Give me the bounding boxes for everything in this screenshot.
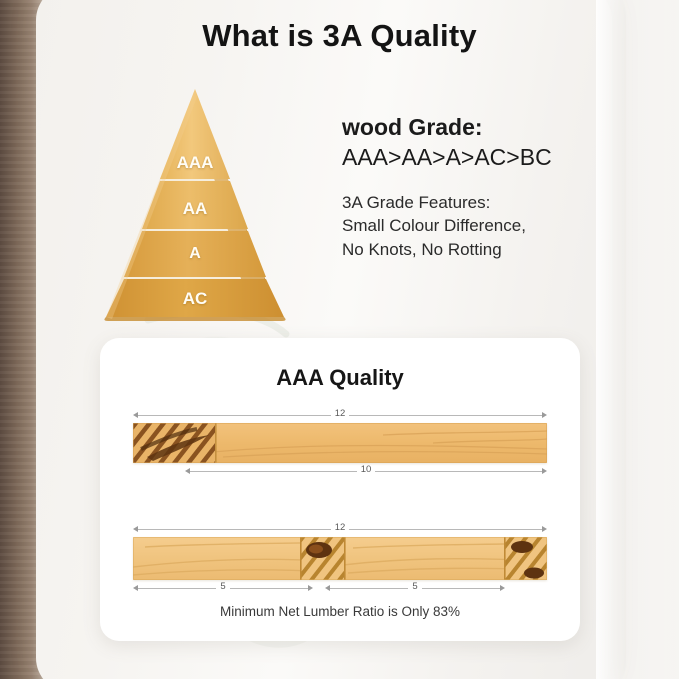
features-heading: 3A Grade Features: bbox=[342, 191, 632, 214]
content-panel-edge bbox=[596, 0, 626, 679]
dim-bottom-seg-1: 5 bbox=[133, 581, 313, 595]
dim-top-total: 12 bbox=[133, 408, 547, 422]
board-aaa-bottom bbox=[133, 537, 547, 580]
pyramid-label-aa: AA bbox=[82, 199, 308, 219]
pyramid-label-a: A bbox=[82, 245, 308, 263]
board-aaa-top bbox=[133, 423, 547, 463]
pyramid: AAA AA A AC bbox=[82, 83, 308, 321]
dim-bottom-total: 12 bbox=[133, 522, 547, 536]
card-title: AAA Quality bbox=[100, 365, 580, 391]
aaa-quality-card: AAA Quality 12 bbox=[100, 338, 580, 641]
page-title: What is 3A Quality bbox=[0, 18, 679, 54]
infographic-root: What is 3A Quality bbox=[0, 0, 679, 679]
pyramid-label-aaa: AAA bbox=[82, 153, 308, 173]
card-note: Minimum Net Lumber Ratio is Only 83% bbox=[100, 604, 580, 619]
features-line-2: No Knots, No Rotting bbox=[342, 238, 632, 261]
dim-top-total-label: 12 bbox=[331, 409, 350, 419]
grade-chain: AAA>AA>A>AC>BC bbox=[342, 143, 632, 172]
dim-top-usable-label: 10 bbox=[357, 465, 376, 475]
dim-bottom-seg-2: 5 bbox=[325, 581, 505, 595]
pyramid-label-ac: AC bbox=[82, 289, 308, 309]
grade-info-block: wood Grade: AAA>AA>A>AC>BC 3A Grade Feat… bbox=[342, 113, 632, 261]
features-line-1: Small Colour Difference, bbox=[342, 214, 632, 237]
grade-heading: wood Grade: bbox=[342, 113, 632, 142]
dim-top-usable: 10 bbox=[185, 464, 547, 478]
dim-bottom-seg-2-label: 5 bbox=[408, 582, 421, 592]
dim-bottom-total-label: 12 bbox=[331, 523, 350, 533]
dim-bottom-seg-1-label: 5 bbox=[216, 582, 229, 592]
